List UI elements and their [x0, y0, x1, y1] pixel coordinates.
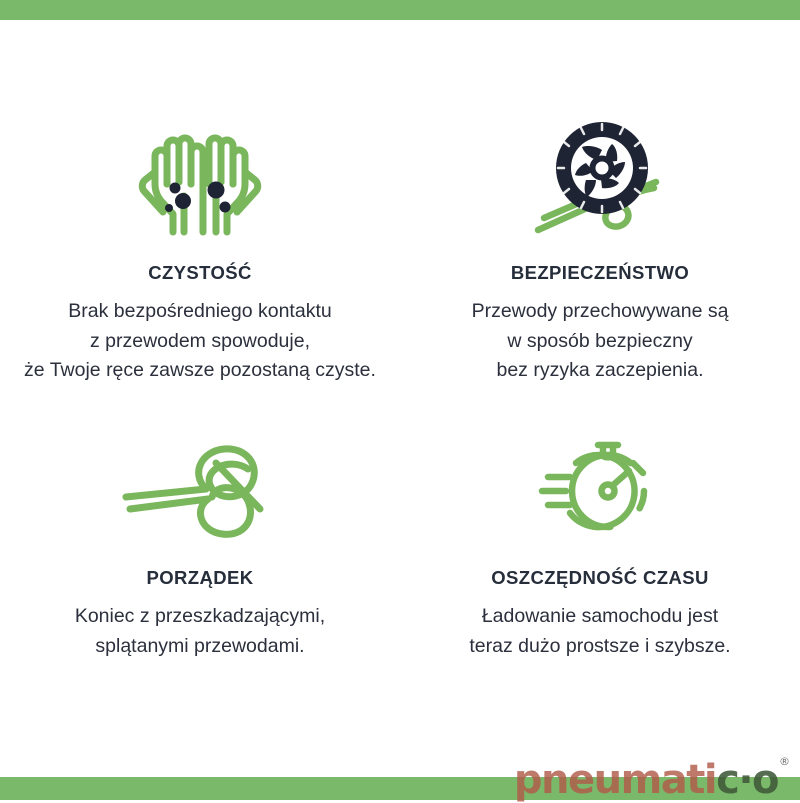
registered-trademark-icon: ® — [779, 752, 790, 767]
feature-description-line: z przewodem spowoduje, — [0, 327, 400, 357]
feature-description-line: Ładowanie samochodu jest — [400, 602, 800, 632]
feature-description-line: że Twoje ręce zawsze pozostaną czyste. — [0, 356, 400, 386]
tangled-cable-icon — [0, 425, 400, 545]
feature-description: Przewody przechowywane są w sposób bezpi… — [400, 297, 800, 386]
feature-title: BEZPIECZEŃSTWO — [400, 262, 800, 284]
feature-description-line: w sposób bezpieczny — [400, 327, 800, 357]
feature-card-bezpieczenstwo: BEZPIECZEŃSTWO Przewody przechowywane są… — [400, 120, 800, 386]
feature-description-line: Koniec z przeszkadzającymi, — [0, 602, 400, 632]
feature-title: CZYSTOŚĆ — [0, 262, 400, 284]
feature-card-porzadek: PORZĄDEK Koniec z przeszkadzającymi, spl… — [0, 425, 400, 661]
pneumatico-logo: pneumati c·o ® — [514, 752, 790, 798]
feature-card-oszczednosc-czasu: OSZCZĘDNOŚĆ CZASU Ładowanie samochodu je… — [400, 425, 800, 661]
feature-title: PORZĄDEK — [0, 567, 400, 589]
feature-description: Koniec z przeszkadzającymi, splątanymi p… — [0, 602, 400, 661]
feature-description: Ładowanie samochodu jest teraz dużo pros… — [400, 602, 800, 661]
tire-with-cable-icon — [400, 120, 800, 240]
feature-description-line: splątanymi przewodami. — [0, 632, 400, 662]
features-grid: CZYSTOŚĆ Brak bezpośredniego kontaktu z … — [0, 20, 800, 777]
feature-description-line: bez ryzyka zaczepienia. — [400, 356, 800, 386]
logo-text-secondary: c·o — [716, 762, 778, 798]
top-green-bar — [0, 0, 800, 20]
feature-description-line: Przewody przechowywane są — [400, 297, 800, 327]
hands-icon — [0, 120, 400, 240]
infographic-page: CZYSTOŚĆ Brak bezpośredniego kontaktu z … — [0, 0, 800, 800]
feature-card-czystosc: CZYSTOŚĆ Brak bezpośredniego kontaktu z … — [0, 120, 400, 386]
feature-description-line: Brak bezpośredniego kontaktu — [0, 297, 400, 327]
stopwatch-icon — [400, 425, 800, 545]
logo-text-primary: pneumati — [514, 762, 716, 798]
feature-description-line: teraz dużo prostsze i szybsze. — [400, 632, 800, 662]
feature-description: Brak bezpośredniego kontaktu z przewodem… — [0, 297, 400, 386]
feature-title: OSZCZĘDNOŚĆ CZASU — [400, 567, 800, 589]
